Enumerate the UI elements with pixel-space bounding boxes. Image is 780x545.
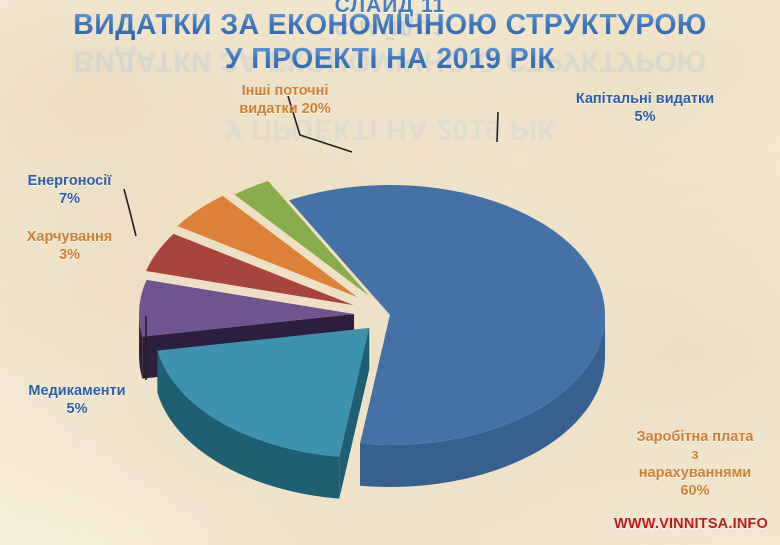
pie-slices-group bbox=[139, 181, 605, 499]
callout-harchuvannya: Харчування 3% bbox=[2, 228, 137, 264]
callout-kapitalni-vydatky: Капітальні видатки 5% bbox=[535, 90, 755, 126]
presentation-slide: СЛАЙД 11 СЛАЙД 11 ВИДАТКИ ЗА ЕКОНОМІЧНОЮ… bbox=[0, 0, 780, 545]
callout-medykamenty: Медикаменти 5% bbox=[2, 382, 152, 418]
site-watermark: WWW.VINNITSA.INFO bbox=[614, 516, 768, 532]
pie-slice-інші-поточні-видатки[interactable] bbox=[157, 328, 369, 499]
callout-inshi-potochni: Інші поточні видатки 20% bbox=[195, 82, 375, 118]
leader-line-kapitalni bbox=[497, 112, 498, 142]
callout-zarplata: Заробітна плата з нарахуваннями 60% bbox=[612, 428, 778, 500]
callout-energonosii: Енергоносії 7% bbox=[2, 172, 137, 208]
